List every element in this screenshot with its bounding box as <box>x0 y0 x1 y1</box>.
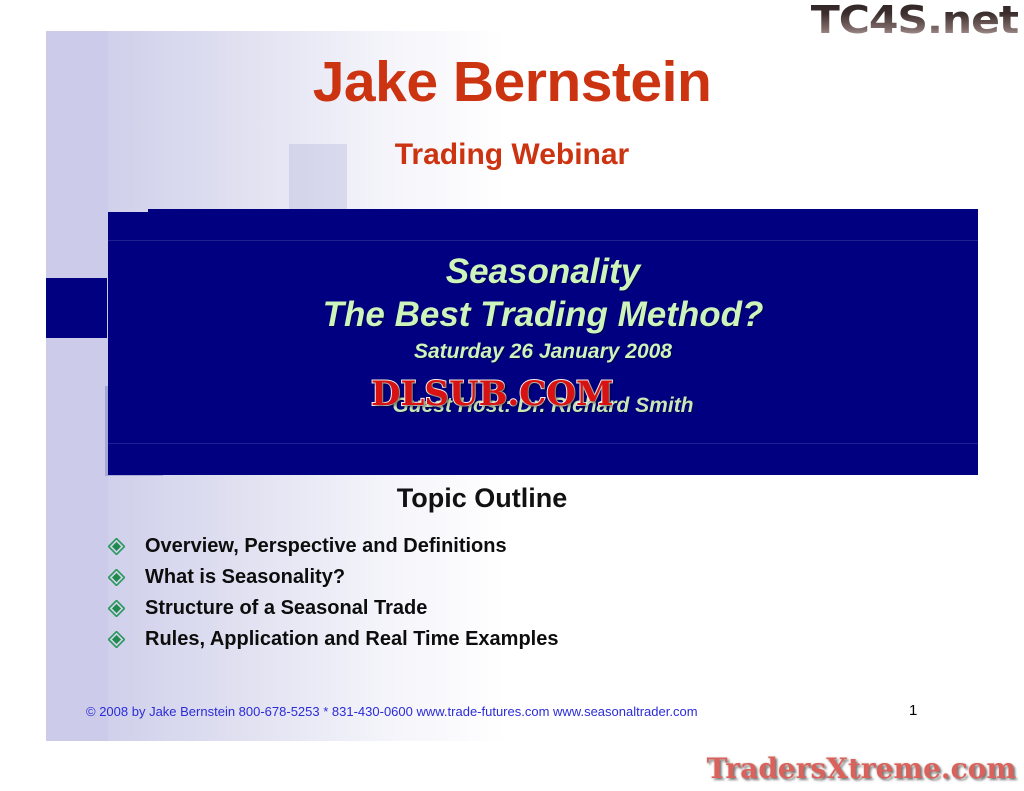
list-item-label: Structure of a Seasonal Trade <box>145 597 427 620</box>
tradersxtreme-watermark: TradersXtreme.com <box>707 752 1016 785</box>
page-title: Jake Bernstein <box>46 53 978 113</box>
title-block-rule-top <box>108 240 978 241</box>
deck-title-line2: The Best Trading Method? <box>108 293 978 336</box>
deck-title-line1: Seasonality <box>108 250 978 293</box>
list-item: Overview, Perspective and Definitions <box>108 531 808 562</box>
list-item-label: Rules, Application and Real Time Example… <box>145 628 558 651</box>
decor-navy-square <box>46 278 107 338</box>
deck-date: Saturday 26 January 2008 <box>108 340 978 364</box>
outline-heading: Topic Outline <box>46 483 978 514</box>
page-subtitle: Trading Webinar <box>46 138 978 172</box>
green-diamond-bullet-icon <box>108 538 125 555</box>
slide-canvas: Seasonality The Best Trading Method? Sat… <box>46 31 978 741</box>
outline-list: Overview, Perspective and Definitions Wh… <box>108 531 808 655</box>
title-block: Seasonality The Best Trading Method? Sat… <box>108 212 978 475</box>
tc4s-watermark: TC4S.net <box>811 0 1018 42</box>
list-item-label: Overview, Perspective and Definitions <box>145 535 507 558</box>
footer-copyright: © 2008 by Jake Bernstein 800-678-5253 * … <box>86 704 698 719</box>
list-item: Structure of a Seasonal Trade <box>108 593 808 624</box>
green-diamond-bullet-icon <box>108 600 125 617</box>
page-number: 1 <box>909 702 917 719</box>
green-diamond-bullet-icon <box>108 631 125 648</box>
title-block-rule-bottom <box>108 443 978 444</box>
list-item: Rules, Application and Real Time Example… <box>108 624 808 655</box>
green-diamond-bullet-icon <box>108 569 125 586</box>
list-item-label: What is Seasonality? <box>145 566 345 589</box>
list-item: What is Seasonality? <box>108 562 808 593</box>
deck-title: Seasonality The Best Trading Method? <box>108 250 978 337</box>
dlsub-watermark: DLSUB.COM <box>371 374 613 414</box>
